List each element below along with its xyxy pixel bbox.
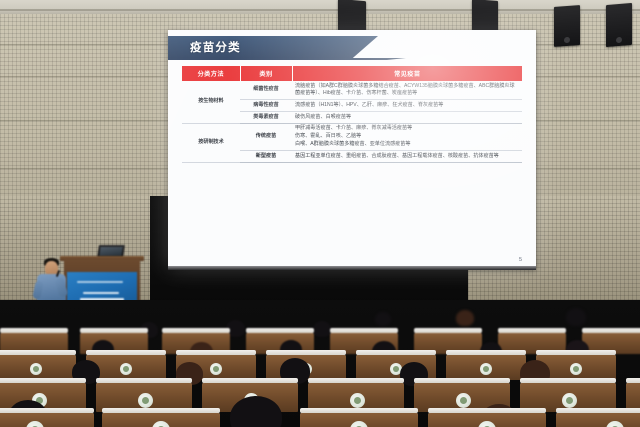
seat-emblem-icon xyxy=(138,393,153,408)
group-label-technology: 按研制技术 xyxy=(182,123,240,162)
seat xyxy=(0,412,94,427)
seat-emblem-icon xyxy=(456,393,471,408)
slide-content: 疫苗分类 分类方法 类别 常见疫苗 按生物材料 细菌性疫苗 流脑疫苗（如A xyxy=(168,30,536,268)
screen-bottom-rail xyxy=(168,266,536,270)
title-underline xyxy=(168,58,406,60)
category-traditional: 传统疫苗 xyxy=(240,123,292,150)
seat xyxy=(428,412,546,427)
seat-emblem-icon xyxy=(480,363,492,375)
seat-emblem-icon xyxy=(562,393,577,408)
seat-emblem-icon xyxy=(152,421,170,427)
projection-screen: 疫苗分类 分类方法 类别 常见疫苗 按生物材料 细菌性疫苗 流脑疫苗（如A xyxy=(168,30,536,268)
category-novel: 新型疫苗 xyxy=(240,151,292,163)
vaccines-novel: 基因工程亚单位疫苗、重组疫苗、合成肽疫苗、基因工程载体疫苗、核酸疫苗、抗体疫苗等 xyxy=(292,151,522,163)
category-viral: 病毒性疫苗 xyxy=(240,100,292,112)
audience-head xyxy=(456,310,474,326)
table-row: 按研制技术 传统疫苗 甲肝减毒活疫苗、卡介苗、麻疹、脊灰减毒活疫苗等 伤寒、霍乱… xyxy=(182,123,522,150)
table-header-row: 分类方法 类别 常见疫苗 xyxy=(182,66,522,81)
seat-emblem-icon xyxy=(606,421,624,427)
banner-text-line xyxy=(77,281,123,283)
audience-head xyxy=(375,312,391,326)
page-title: 疫苗分类 xyxy=(190,39,241,55)
ceiling-speaker-icon xyxy=(606,3,632,47)
lecture-hall-photo: 疫苗分类 分类方法 类别 常见疫苗 按生物材料 细菌性疫苗 流脑疫苗（如A xyxy=(0,0,640,427)
seat-emblem-icon xyxy=(478,421,496,427)
seat xyxy=(556,412,640,427)
vaccines-bacterial: 流脑疫苗（如A群C群脑膜炎球菌多糖结合疫苗、ACYW135脑膜炎球菌多糖疫苗、A… xyxy=(292,81,522,100)
seat-emblem-icon xyxy=(210,363,222,375)
vaccines-viral: 流感疫苗（H1N1等）、HPV、乙肝、麻疹、狂犬疫苗、脊灰疫苗等 xyxy=(292,100,522,112)
seat xyxy=(102,412,220,427)
category-bacterial: 细菌性疫苗 xyxy=(240,81,292,100)
audience-head xyxy=(566,308,586,326)
seat xyxy=(446,354,526,380)
seat-emblem-icon xyxy=(26,421,44,427)
vaccine-classification-table: 分类方法 类别 常见疫苗 按生物材料 细菌性疫苗 流脑疫苗（如A群C群脑膜炎球菌… xyxy=(182,66,522,163)
group-label-biomaterial: 按生物材料 xyxy=(182,81,240,123)
ceiling-speaker-icon xyxy=(554,5,580,47)
slide-page-number: 5 xyxy=(519,257,522,263)
vaccines-traditional: 甲肝减毒活疫苗、卡介苗、麻疹、脊灰减毒活疫苗等 伤寒、霍乱、百日咳、乙脑等 白喉… xyxy=(292,123,522,150)
table-row: 按生物材料 细菌性疫苗 流脑疫苗（如A群C群脑膜炎球菌多糖结合疫苗、ACYW13… xyxy=(182,81,522,100)
audience-area xyxy=(0,300,640,427)
slide-title-banner: 疫苗分类 xyxy=(168,36,378,58)
banner-text-line xyxy=(83,292,119,294)
vaccines-toxoid: 破伤风疫苗、白喉疫苗等 xyxy=(292,112,522,124)
seat-emblem-icon xyxy=(120,363,132,375)
seat-emblem-icon xyxy=(350,421,368,427)
column-header-method: 分类方法 xyxy=(182,66,240,81)
laptop-screen xyxy=(99,247,122,256)
category-toxoid: 类毒素疫苗 xyxy=(240,112,292,124)
column-header-category: 类别 xyxy=(240,66,292,81)
column-header-vaccines: 常见疫苗 xyxy=(292,66,522,81)
audience-head xyxy=(313,321,331,337)
seat-emblem-icon xyxy=(570,363,582,375)
seat-emblem-icon xyxy=(350,393,365,408)
seat-emblem-icon xyxy=(30,363,42,375)
ceiling xyxy=(0,0,640,14)
seat xyxy=(300,412,418,427)
seat xyxy=(0,354,76,380)
